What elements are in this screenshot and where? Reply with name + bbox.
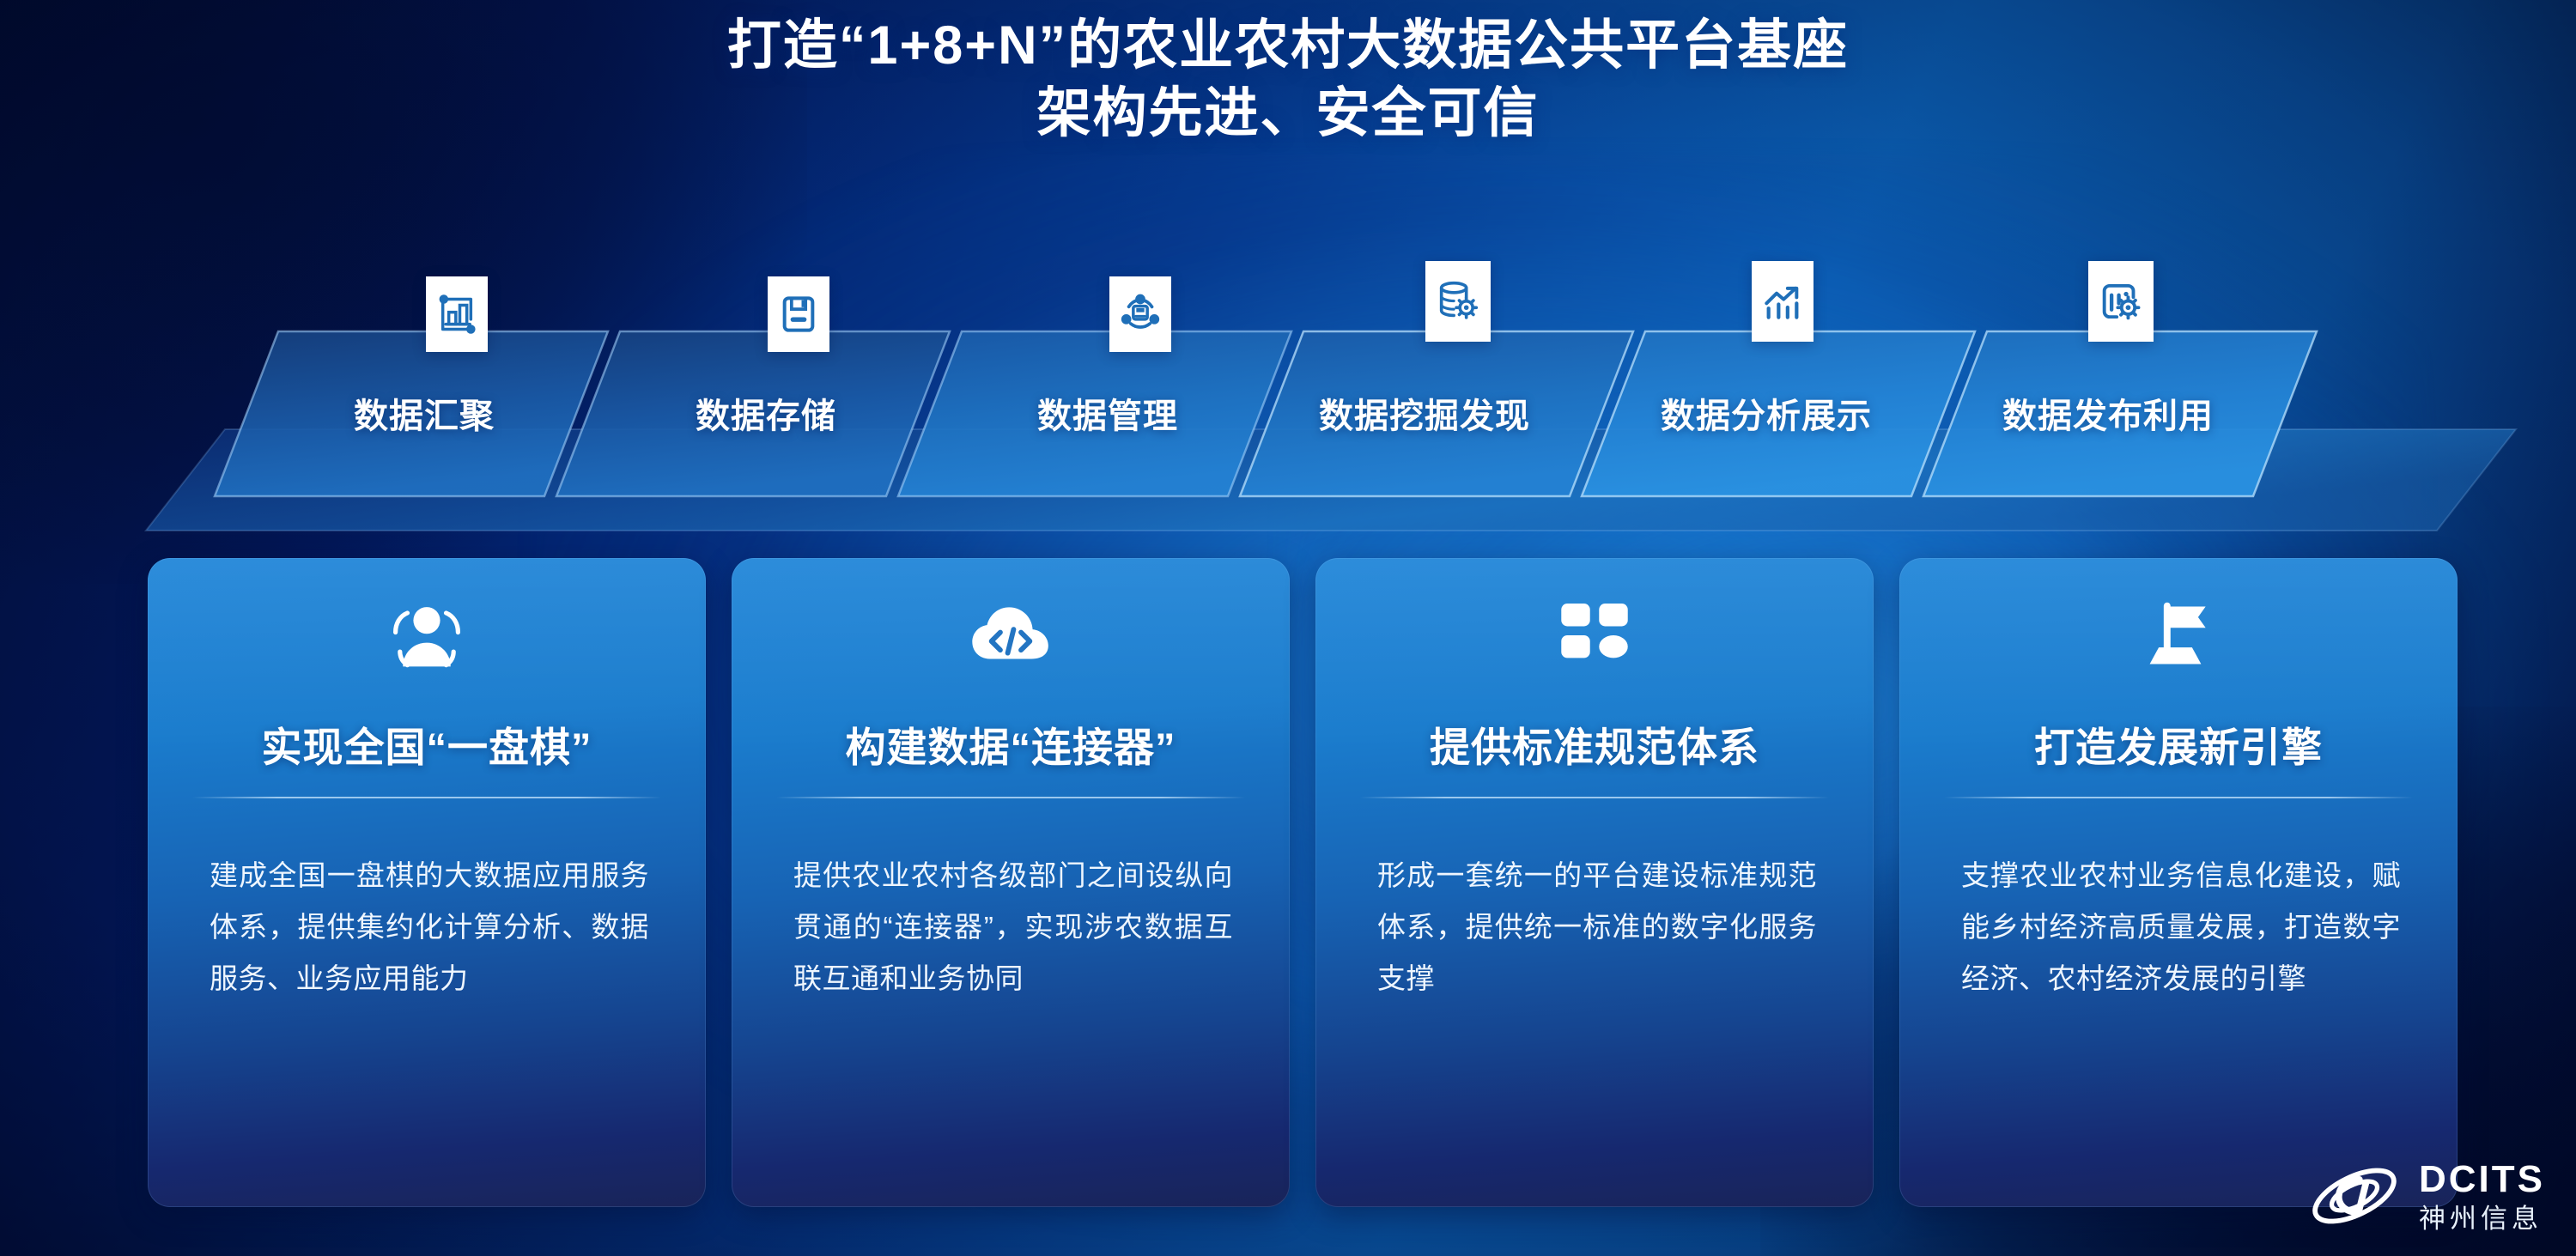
cloud-code-icon [963, 598, 1058, 673]
stage-label-6: 数据发布利用 [2002, 388, 2214, 438]
card-3-icon-wrap [1315, 598, 1874, 673]
bar-chart-frame-icon [433, 290, 481, 338]
logo-cn: 神州信息 [2419, 1205, 2545, 1232]
stage-label-4: 数据挖掘发现 [1319, 388, 1530, 438]
card-2-body: 提供农业农村各级部门之间设纵向贯通的“连接器”，实现涉农数据互联互通和业务协同 [793, 850, 1233, 1004]
logo-text-block: DCITS 神州信息 [2419, 1161, 2545, 1232]
card-1-icon-wrap [148, 598, 706, 673]
dcits-logo: DCITS 神州信息 [2304, 1155, 2545, 1237]
stage-icon-tile-4 [1425, 261, 1491, 342]
card-3-title: 提供标准规范体系 [1315, 714, 1874, 774]
stage-label-3: 数据管理 [1037, 388, 1178, 438]
title-line-2: 架构先进、安全可信 [0, 80, 2576, 148]
stage-icon-tile-6 [2088, 261, 2154, 342]
trend-chart-icon [1759, 277, 1807, 325]
card-1-body: 建成全国一盘棋的大数据应用服务体系，提供集约化计算分析、数据服务、业务应用能力 [210, 850, 649, 1004]
benefit-cards: 实现全国“一盘棋” 建成全国一盘棋的大数据应用服务体系，提供集约化计算分析、数据… [0, 558, 2576, 1210]
card-1-title: 实现全国“一盘棋” [148, 714, 706, 774]
title-line-1: 打造“1+8+N”的农业农村大数据公共平台基座 [0, 12, 2576, 80]
card-1-divider [192, 797, 661, 798]
card-4-body: 支撑农业农村业务信息化建设，赋能乡村经济高质量发展，打造数字经济、农村经济发展的… [1961, 850, 2401, 1004]
benefit-card-2[interactable]: 构建数据“连接器” 提供农业农村各级部门之间设纵向贯通的“连接器”，实现涉农数据… [732, 558, 1290, 1207]
benefit-card-4[interactable]: 打造发展新引擎 支撑农业农村业务信息化建设，赋能乡村经济高质量发展，打造数字经济… [1899, 558, 2458, 1207]
stage-icon-tile-5 [1752, 261, 1814, 342]
grid-blocks-icon [1555, 598, 1634, 673]
benefit-card-1[interactable]: 实现全国“一盘棋” 建成全国一盘棋的大数据应用服务体系，提供集约化计算分析、数据… [148, 558, 706, 1207]
logo-en: DCITS [2419, 1161, 2545, 1198]
floppy-disk-icon [775, 290, 823, 338]
orbit-swirl-icon [2304, 1155, 2405, 1237]
people-icon [382, 598, 471, 673]
panel-gear-icon [2096, 276, 2146, 326]
network-hub-icon [1116, 290, 1164, 338]
stage-label-5: 数据分析展示 [1661, 388, 1872, 438]
data-lifecycle-platform: 数据汇聚 数据存储 数据管理 数据挖掘发现 数据分析展示 数据发布利用 [0, 283, 2576, 541]
card-2-title: 构建数据“连接器” [732, 714, 1290, 774]
card-4-icon-wrap [1899, 598, 2458, 673]
card-4-divider [1944, 797, 2413, 798]
stage-icon-tile-2 [768, 276, 829, 352]
card-4-title: 打造发展新引擎 [1899, 714, 2458, 774]
card-3-divider [1360, 797, 1829, 798]
stage-label-1: 数据汇聚 [354, 388, 495, 438]
card-2-divider [776, 797, 1245, 798]
stage-label-2: 数据存储 [696, 388, 836, 438]
card-3-body: 形成一套统一的平台建设标准规范体系，提供统一标准的数字化服务支撑 [1377, 850, 1817, 1004]
flag-icon [2136, 598, 2221, 673]
benefit-card-3[interactable]: 提供标准规范体系 形成一套统一的平台建设标准规范体系，提供统一标准的数字化服务支… [1315, 558, 1874, 1207]
page-title: 打造“1+8+N”的农业农村大数据公共平台基座 架构先进、安全可信 [0, 12, 2576, 149]
card-2-icon-wrap [732, 598, 1290, 673]
slide-root: 打造“1+8+N”的农业农村大数据公共平台基座 架构先进、安全可信 [0, 0, 2576, 1256]
stage-icon-tile-3 [1109, 276, 1171, 352]
stage-icon-tile-1 [426, 276, 488, 352]
database-gear-icon [1433, 276, 1483, 326]
